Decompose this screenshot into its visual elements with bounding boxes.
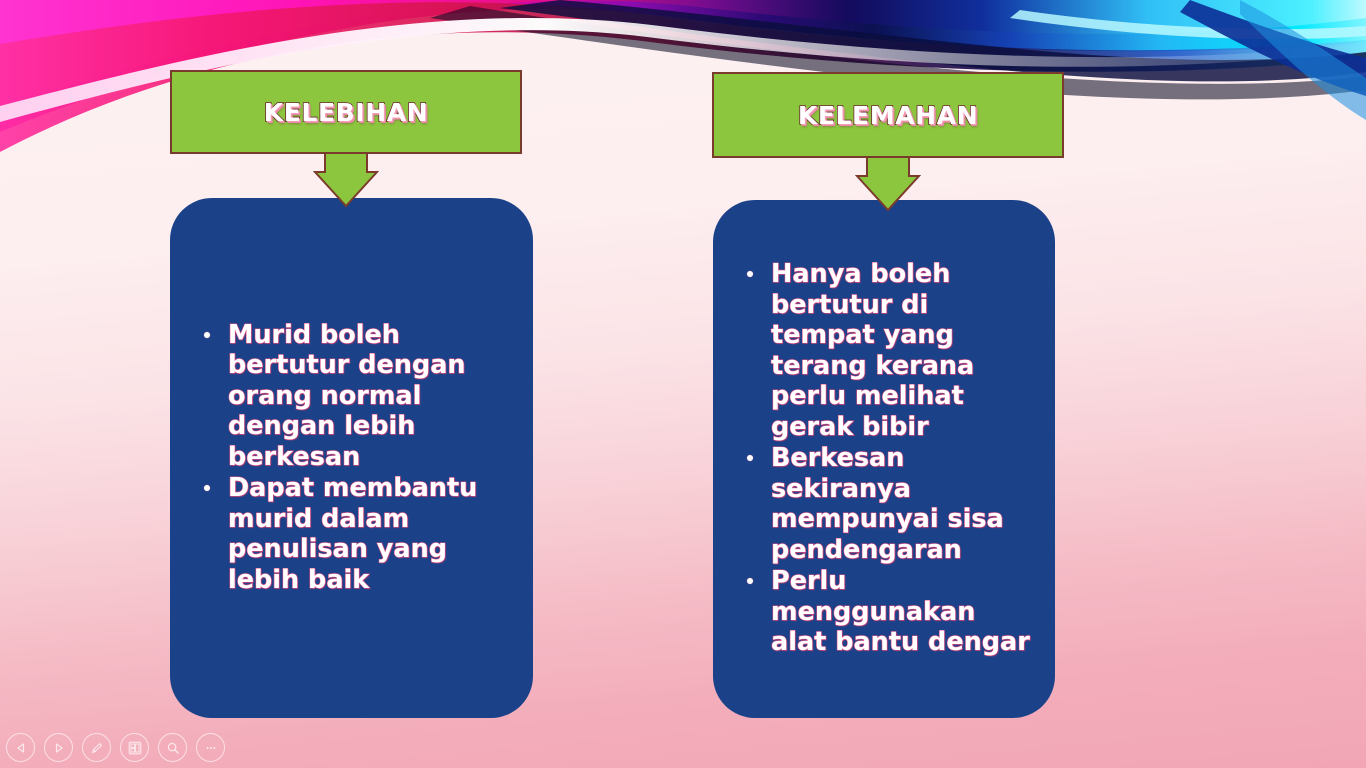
- list-item: Perlu menggunakan alat bantu dengar: [731, 566, 1033, 658]
- header-title-kelebihan: KELEBIHAN: [264, 98, 428, 127]
- down-arrow-connector-left: [313, 152, 379, 208]
- next-slide-button[interactable]: [44, 733, 73, 762]
- list-item: Hanya boleh bertutur di tempat yang tera…: [731, 259, 1033, 442]
- list-item: Murid boleh bertutur dengan orang normal…: [188, 320, 511, 473]
- header-box-kelemahan[interactable]: KELEMAHAN: [712, 72, 1064, 158]
- list-item: Dapat membantu murid dalam penulisan yan…: [188, 473, 511, 595]
- panel-body-kelebihan: Murid boleh bertutur dengan orang normal…: [170, 320, 533, 597]
- presenter-control-bar: [6, 733, 225, 762]
- all-slides-button[interactable]: [120, 733, 149, 762]
- ellipsis-icon: [204, 741, 218, 755]
- pen-icon: [90, 741, 104, 755]
- header-box-kelebihan[interactable]: KELEBIHAN: [170, 70, 522, 154]
- bullet-list-kelebihan: Murid boleh bertutur dengan orang normal…: [188, 320, 511, 596]
- list-item: Berkesan sekiranya mempunyai sisa penden…: [731, 443, 1033, 565]
- magnifier-icon: [166, 741, 180, 755]
- presentation-slide: KELEBIHAN Murid boleh bertutur dengan or…: [0, 0, 1366, 768]
- panel-body-kelemahan: Hanya boleh bertutur di tempat yang tera…: [713, 259, 1055, 659]
- previous-slide-button[interactable]: [6, 733, 35, 762]
- triangle-right-icon: [53, 742, 65, 754]
- content-panel-kelebihan: Murid boleh bertutur dengan orang normal…: [170, 198, 533, 718]
- zoom-button[interactable]: [158, 733, 187, 762]
- header-title-kelemahan: KELEMAHAN: [798, 101, 978, 130]
- triangle-left-icon: [15, 742, 27, 754]
- pen-tool-button[interactable]: [82, 733, 111, 762]
- grid-slides-icon: [128, 741, 142, 755]
- bullet-list-kelemahan: Hanya boleh bertutur di tempat yang tera…: [731, 259, 1033, 658]
- down-arrow-connector-right: [855, 156, 921, 212]
- more-options-button[interactable]: [196, 733, 225, 762]
- content-panel-kelemahan: Hanya boleh bertutur di tempat yang tera…: [713, 200, 1055, 718]
